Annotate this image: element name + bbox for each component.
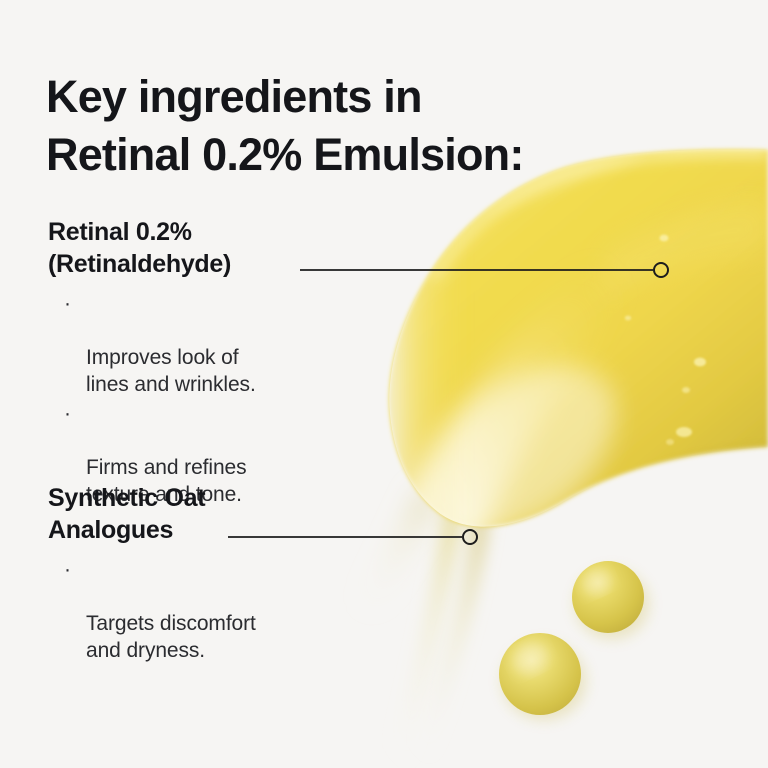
benefit-list-retinal: · Improves look of lines and wrinkles. ·…: [48, 290, 368, 508]
benefit-list-synthetic-oat: · Targets discomfort and dryness.: [48, 556, 368, 664]
ingredient-block-synthetic-oat: Synthetic Oat Analogues · Targets discom…: [48, 482, 368, 666]
bullet-glyph: ·: [64, 400, 71, 427]
bullet-glyph: ·: [64, 290, 71, 317]
benefit-text: Improves look of lines and wrinkles.: [86, 346, 256, 396]
content-layer: Key ingredients in Retinal 0.2% Emulsion…: [0, 0, 768, 768]
bullet-glyph: ·: [64, 556, 71, 583]
infographic-canvas: Key ingredients in Retinal 0.2% Emulsion…: [0, 0, 768, 768]
page-title: Key ingredients in Retinal 0.2% Emulsion…: [46, 68, 646, 184]
ingredient-name-retinal: Retinal 0.2% (Retinaldehyde): [48, 216, 368, 280]
ingredient-block-retinal: Retinal 0.2% (Retinaldehyde) · Improves …: [48, 216, 368, 510]
ingredient-name-synthetic-oat: Synthetic Oat Analogues: [48, 482, 368, 546]
benefit-item: · Targets discomfort and dryness.: [64, 556, 368, 664]
benefit-text: Targets discomfort and dryness.: [86, 612, 256, 662]
benefit-item: · Improves look of lines and wrinkles.: [64, 290, 368, 398]
